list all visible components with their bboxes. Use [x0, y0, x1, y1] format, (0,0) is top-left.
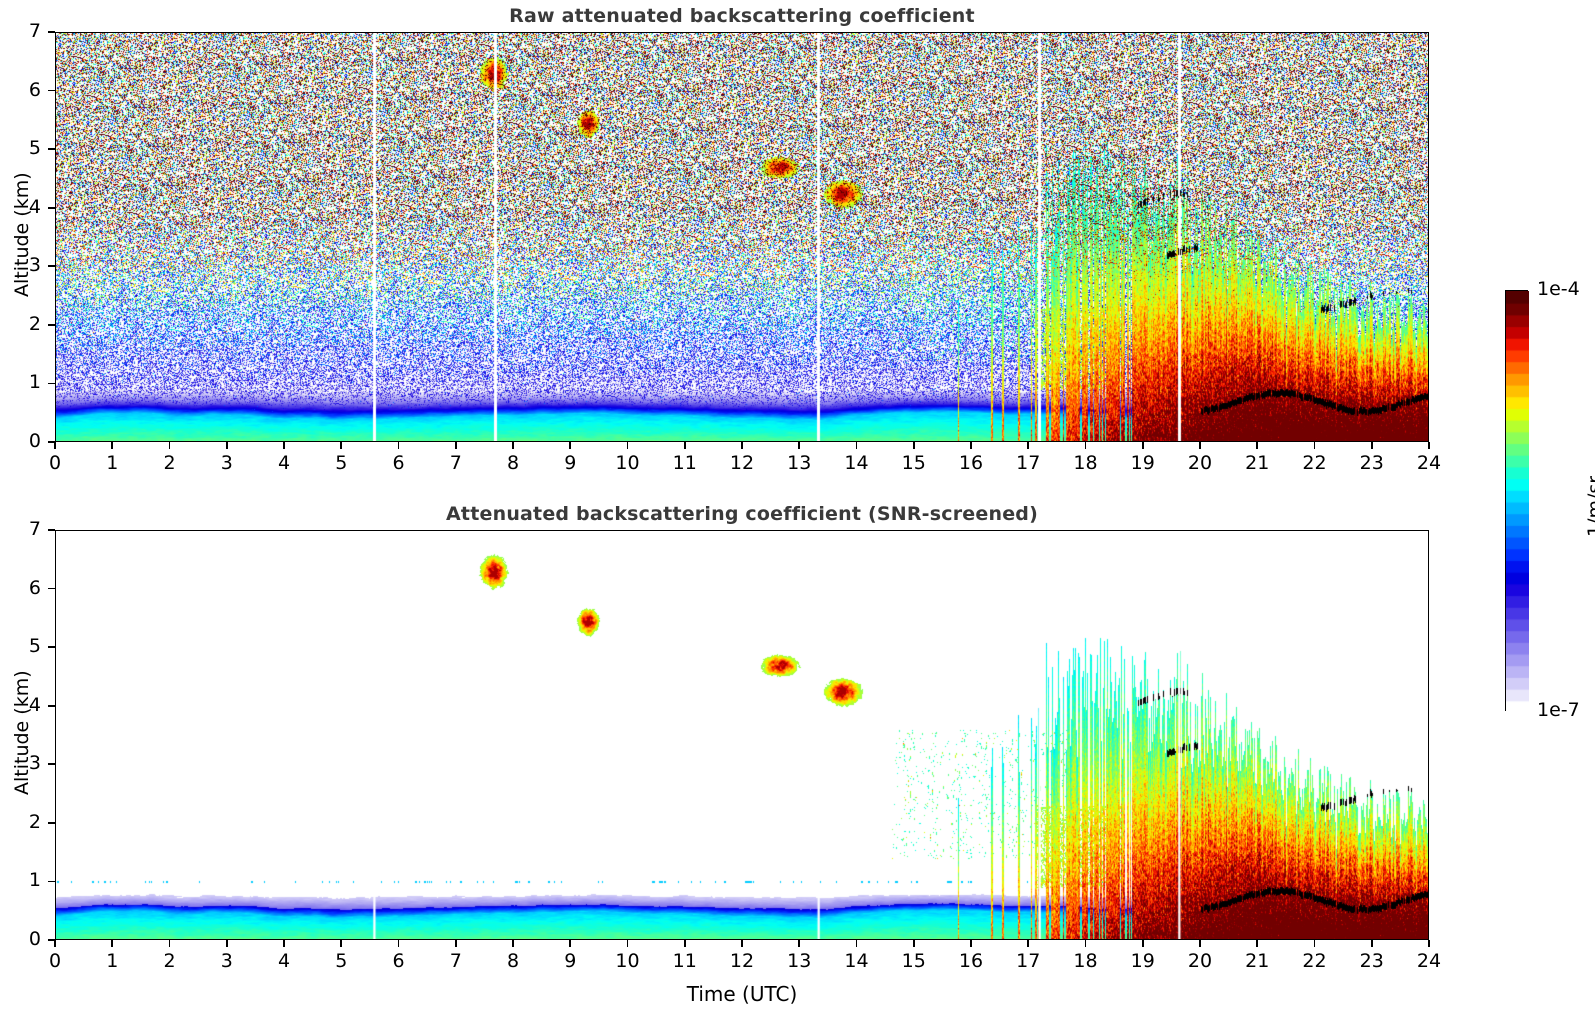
x-tick-label: 18 — [1064, 452, 1108, 474]
x-tick — [340, 442, 342, 449]
plot-area-screened[interactable] — [55, 530, 1429, 940]
x-tick — [970, 442, 972, 449]
y-tick — [48, 529, 55, 531]
x-tick — [1027, 442, 1029, 449]
x-tick-label: 22 — [1293, 452, 1337, 474]
x-axis-label-time: Time (UTC) — [55, 982, 1429, 1006]
x-tick-label: 11 — [663, 950, 707, 972]
x-tick-label: 4 — [262, 950, 306, 972]
x-tick-label: 5 — [319, 452, 363, 474]
y-tick — [48, 588, 55, 590]
x-tick-label: 21 — [1235, 452, 1279, 474]
y-tick — [48, 324, 55, 326]
x-tick-label: 7 — [434, 950, 478, 972]
x-tick-label: 0 — [33, 452, 77, 474]
x-tick-label: 4 — [262, 452, 306, 474]
x-tick — [1085, 442, 1087, 449]
x-tick — [455, 442, 457, 449]
y-tick-label: 2 — [11, 811, 41, 833]
y-tick-label: 0 — [11, 430, 41, 452]
y-tick — [48, 881, 55, 883]
x-tick-label: 16 — [949, 950, 993, 972]
x-tick — [569, 940, 571, 947]
y-tick-label: 6 — [11, 79, 41, 101]
x-tick — [1371, 442, 1373, 449]
x-tick-label: 21 — [1235, 950, 1279, 972]
x-tick-label: 9 — [548, 950, 592, 972]
x-tick-label: 13 — [777, 950, 821, 972]
x-tick-label: 7 — [434, 452, 478, 474]
x-tick — [684, 940, 686, 947]
x-tick — [741, 940, 743, 947]
x-tick — [798, 940, 800, 947]
x-tick-label: 10 — [606, 452, 650, 474]
y-tick-label: 1 — [11, 869, 41, 891]
x-tick — [1199, 442, 1201, 449]
x-tick — [283, 442, 285, 449]
y-tick-label: 6 — [11, 577, 41, 599]
x-tick — [1371, 940, 1373, 947]
x-tick-label: 8 — [491, 452, 535, 474]
heatmap-canvas-raw — [56, 33, 1429, 442]
x-tick — [856, 442, 858, 449]
y-tick-label: 1 — [11, 371, 41, 393]
y-tick-label: 7 — [11, 20, 41, 42]
y-tick — [48, 31, 55, 33]
y-tick — [48, 148, 55, 150]
panel-title-screened: Attenuated backscattering coefficient (S… — [55, 503, 1429, 525]
y-tick — [48, 705, 55, 707]
x-tick — [569, 442, 571, 449]
y-tick — [48, 383, 55, 385]
y-tick-label: 3 — [11, 254, 41, 276]
y-tick-label: 4 — [11, 196, 41, 218]
x-tick — [111, 442, 113, 449]
x-tick — [226, 940, 228, 947]
x-tick-label: 2 — [148, 452, 192, 474]
x-tick-label: 13 — [777, 452, 821, 474]
heatmap-canvas-screened — [56, 531, 1429, 940]
x-tick — [1142, 442, 1144, 449]
x-tick — [169, 442, 171, 449]
x-tick — [1256, 442, 1258, 449]
panel-title-raw: Raw attenuated backscattering coefficien… — [55, 5, 1429, 27]
x-tick — [169, 940, 171, 947]
y-tick-label: 5 — [11, 137, 41, 159]
x-tick — [1085, 940, 1087, 947]
x-tick-label: 17 — [1006, 452, 1050, 474]
colorbar-min-tick-label: 1e-7 — [1537, 699, 1580, 721]
x-tick-label: 23 — [1350, 950, 1394, 972]
x-tick — [798, 442, 800, 449]
y-axis-label-screened: Altitude (km) — [11, 670, 33, 795]
colorbar-gradient — [1506, 291, 1529, 712]
x-tick-label: 14 — [835, 950, 879, 972]
x-tick — [111, 940, 113, 947]
x-tick — [340, 940, 342, 947]
colorbar[interactable] — [1505, 290, 1528, 711]
x-tick-label: 11 — [663, 452, 707, 474]
colorbar-unit-label: 1/m/sr — [1584, 475, 1595, 536]
plot-area-raw[interactable] — [55, 32, 1429, 442]
x-tick-label: 17 — [1006, 950, 1050, 972]
x-tick-label: 9 — [548, 452, 592, 474]
x-tick — [54, 940, 56, 947]
x-tick — [913, 442, 915, 449]
x-tick-label: 20 — [1178, 950, 1222, 972]
y-tick-label: 2 — [11, 313, 41, 335]
x-tick — [627, 442, 629, 449]
x-tick-label: 23 — [1350, 452, 1394, 474]
x-tick — [856, 940, 858, 947]
y-tick — [48, 441, 55, 443]
x-tick — [913, 940, 915, 947]
x-tick-label: 3 — [205, 452, 249, 474]
y-tick — [48, 207, 55, 209]
x-tick-label: 0 — [33, 950, 77, 972]
y-tick — [48, 763, 55, 765]
y-tick-label: 7 — [11, 518, 41, 540]
x-tick-label: 20 — [1178, 452, 1222, 474]
y-tick-label: 4 — [11, 694, 41, 716]
x-tick-label: 1 — [90, 452, 134, 474]
x-tick-label: 8 — [491, 950, 535, 972]
x-tick — [54, 442, 56, 449]
x-tick-label: 24 — [1407, 950, 1451, 972]
x-tick-label: 14 — [835, 452, 879, 474]
x-tick-label: 3 — [205, 950, 249, 972]
x-tick — [627, 940, 629, 947]
x-tick-label: 16 — [949, 452, 993, 474]
x-tick — [1027, 940, 1029, 947]
y-tick — [48, 265, 55, 267]
x-tick — [1256, 940, 1258, 947]
x-tick-label: 18 — [1064, 950, 1108, 972]
x-tick-label: 12 — [720, 950, 764, 972]
x-tick-label: 15 — [892, 950, 936, 972]
x-tick — [970, 940, 972, 947]
x-tick-label: 12 — [720, 452, 764, 474]
y-tick — [48, 822, 55, 824]
x-tick-label: 24 — [1407, 452, 1451, 474]
x-tick-label: 6 — [377, 452, 421, 474]
x-tick-label: 10 — [606, 950, 650, 972]
x-tick — [1199, 940, 1201, 947]
figure-root: Raw attenuated backscattering coefficien… — [0, 0, 1595, 1020]
x-tick — [283, 940, 285, 947]
x-tick — [398, 442, 400, 449]
y-tick — [48, 939, 55, 941]
x-tick-label: 1 — [90, 950, 134, 972]
x-tick-label: 19 — [1121, 452, 1165, 474]
y-tick-label: 3 — [11, 752, 41, 774]
x-tick-label: 2 — [148, 950, 192, 972]
y-tick — [48, 90, 55, 92]
x-tick — [398, 940, 400, 947]
x-tick — [1142, 940, 1144, 947]
colorbar-max-tick-label: 1e-4 — [1537, 278, 1580, 300]
y-tick-label: 0 — [11, 928, 41, 950]
x-tick — [512, 940, 514, 947]
x-tick — [455, 940, 457, 947]
x-tick-label: 6 — [377, 950, 421, 972]
x-tick — [741, 442, 743, 449]
x-tick-label: 22 — [1293, 950, 1337, 972]
x-tick — [1428, 940, 1430, 947]
x-tick-label: 5 — [319, 950, 363, 972]
x-tick — [512, 442, 514, 449]
x-tick — [1314, 442, 1316, 449]
y-tick — [48, 646, 55, 648]
x-tick — [1428, 442, 1430, 449]
x-tick — [1314, 940, 1316, 947]
x-tick — [226, 442, 228, 449]
y-axis-label-raw: Altitude (km) — [11, 172, 33, 297]
x-tick-label: 19 — [1121, 950, 1165, 972]
y-tick-label: 5 — [11, 635, 41, 657]
x-tick-label: 15 — [892, 452, 936, 474]
x-tick — [684, 442, 686, 449]
